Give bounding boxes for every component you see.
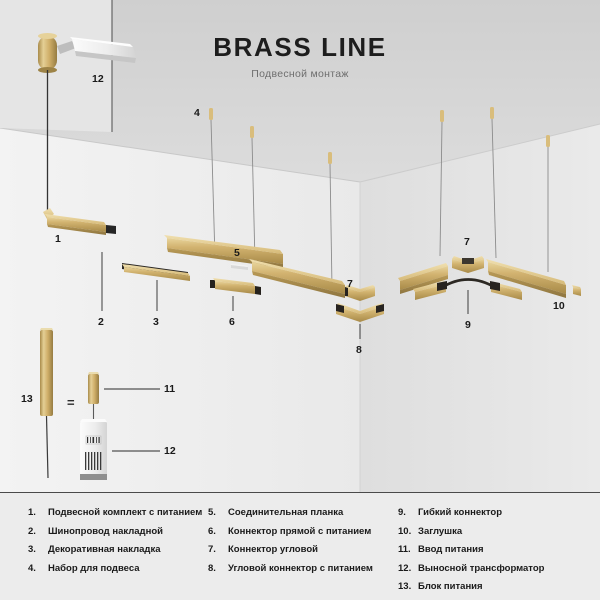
legend-item-3: 3. Декоративная накладка bbox=[28, 544, 208, 556]
legend-item-2: 2. Шинопровод накладной bbox=[28, 526, 208, 538]
part-11-body bbox=[88, 374, 99, 404]
callout-13: 13 bbox=[21, 394, 33, 405]
legend-item-label: Угловой коннектор с питанием bbox=[228, 563, 373, 575]
callout-8: 8 bbox=[356, 345, 362, 356]
callout-10: 10 bbox=[553, 301, 565, 312]
callout-4: 4 bbox=[194, 108, 200, 119]
legend-item-9: 9. Гибкий коннектор bbox=[398, 507, 600, 519]
legend-item-label: Ввод питания bbox=[418, 544, 484, 556]
part-13-top bbox=[40, 328, 53, 330]
legend-item-6: 6. Коннектор прямой с питанием bbox=[208, 526, 398, 538]
legend-item-number: 8. bbox=[208, 563, 228, 575]
callout-1: 1 bbox=[55, 234, 61, 245]
legend-item-number: 9. bbox=[398, 507, 418, 519]
part-12-bottom-top bbox=[80, 419, 107, 422]
legend-column-1: 1. Подвесной комплект с питанием 2. Шино… bbox=[0, 507, 208, 600]
legend: 1. Подвесной комплект с питанием 2. Шино… bbox=[0, 493, 600, 600]
part-12-bottom-terminal bbox=[80, 474, 107, 480]
part-6-cap-right bbox=[255, 286, 261, 295]
wall-left-plane bbox=[0, 128, 360, 492]
legend-item-number: 3. bbox=[28, 544, 48, 556]
legend-item-label: Коннектор прямой с питанием bbox=[228, 526, 371, 538]
legend-item-11: 11. Ввод питания bbox=[398, 544, 600, 556]
legend-item-number: 11. bbox=[398, 544, 418, 556]
callout-7-left: 7 bbox=[347, 279, 353, 290]
callout-3: 3 bbox=[153, 317, 159, 328]
product-diagram-page: BRASS LINE Подвесной монтаж 12 4 1 2 3 5… bbox=[0, 0, 600, 600]
legend-item-number: 7. bbox=[208, 544, 228, 556]
legend-item-5: 5. Соединительная планка bbox=[208, 507, 398, 519]
legend-item-12: 12. Выносной трансформатор bbox=[398, 563, 600, 575]
legend-item-8: 8. Угловой коннектор с питанием bbox=[208, 563, 398, 575]
legend-item-number: 10. bbox=[398, 526, 418, 538]
header: BRASS LINE Подвесной монтаж bbox=[0, 34, 600, 80]
callout-7-right: 7 bbox=[464, 237, 470, 248]
callout-5: 5 bbox=[234, 248, 240, 259]
part-12-bottom-body bbox=[80, 422, 107, 480]
legend-item-label: Коннектор угловой bbox=[228, 544, 318, 556]
legend-column-2: 5. Соединительная планка 6. Коннектор пр… bbox=[208, 507, 398, 600]
legend-item-10: 10. Заглушка bbox=[398, 526, 600, 538]
legend-item-number: 12. bbox=[398, 563, 418, 575]
part-1-power-contact bbox=[106, 225, 116, 234]
part-6-cap-left bbox=[210, 280, 215, 288]
callout-6: 6 bbox=[229, 317, 235, 328]
callout-11: 11 bbox=[164, 384, 175, 395]
callout-9: 9 bbox=[465, 320, 471, 331]
page-subtitle: Подвесной монтаж bbox=[0, 69, 600, 80]
legend-item-label: Шинопровод накладной bbox=[48, 526, 163, 538]
legend-item-label: Декоративная накладка bbox=[48, 544, 161, 556]
legend-item-label: Набор для подвеса bbox=[48, 563, 140, 575]
legend-item-label: Соединительная планка bbox=[228, 507, 343, 519]
legend-item-13: 13. Блок питания bbox=[398, 581, 600, 593]
legend-item-label: Заглушка bbox=[418, 526, 462, 538]
legend-item-4: 4. Набор для подвеса bbox=[28, 563, 208, 575]
callout-12-bottom: 12 bbox=[164, 446, 176, 457]
part-11-top bbox=[88, 372, 99, 374]
legend-item-number: 2. bbox=[28, 526, 48, 538]
legend-column-3: 9. Гибкий коннектор 10. Заглушка 11. Вво… bbox=[398, 507, 600, 600]
legend-item-number: 13. bbox=[398, 581, 418, 593]
legend-item-number: 1. bbox=[28, 507, 48, 519]
legend-item-label: Гибкий коннектор bbox=[418, 507, 502, 519]
page-title: BRASS LINE bbox=[0, 34, 600, 60]
legend-item-number: 4. bbox=[28, 563, 48, 575]
legend-item-label: Подвесной комплект с питанием bbox=[48, 507, 202, 519]
equals-sign: = bbox=[67, 396, 75, 409]
callout-2: 2 bbox=[98, 317, 104, 328]
legend-item-label: Выносной трансформатор bbox=[418, 563, 544, 575]
part-13-body bbox=[40, 330, 53, 416]
legend-item-number: 5. bbox=[208, 507, 228, 519]
legend-item-7: 7. Коннектор угловой bbox=[208, 544, 398, 556]
part-7-right-insert bbox=[462, 258, 474, 264]
legend-item-number: 6. bbox=[208, 526, 228, 538]
legend-item-label: Блок питания bbox=[418, 581, 483, 593]
legend-item-1: 1. Подвесной комплект с питанием bbox=[28, 507, 208, 519]
